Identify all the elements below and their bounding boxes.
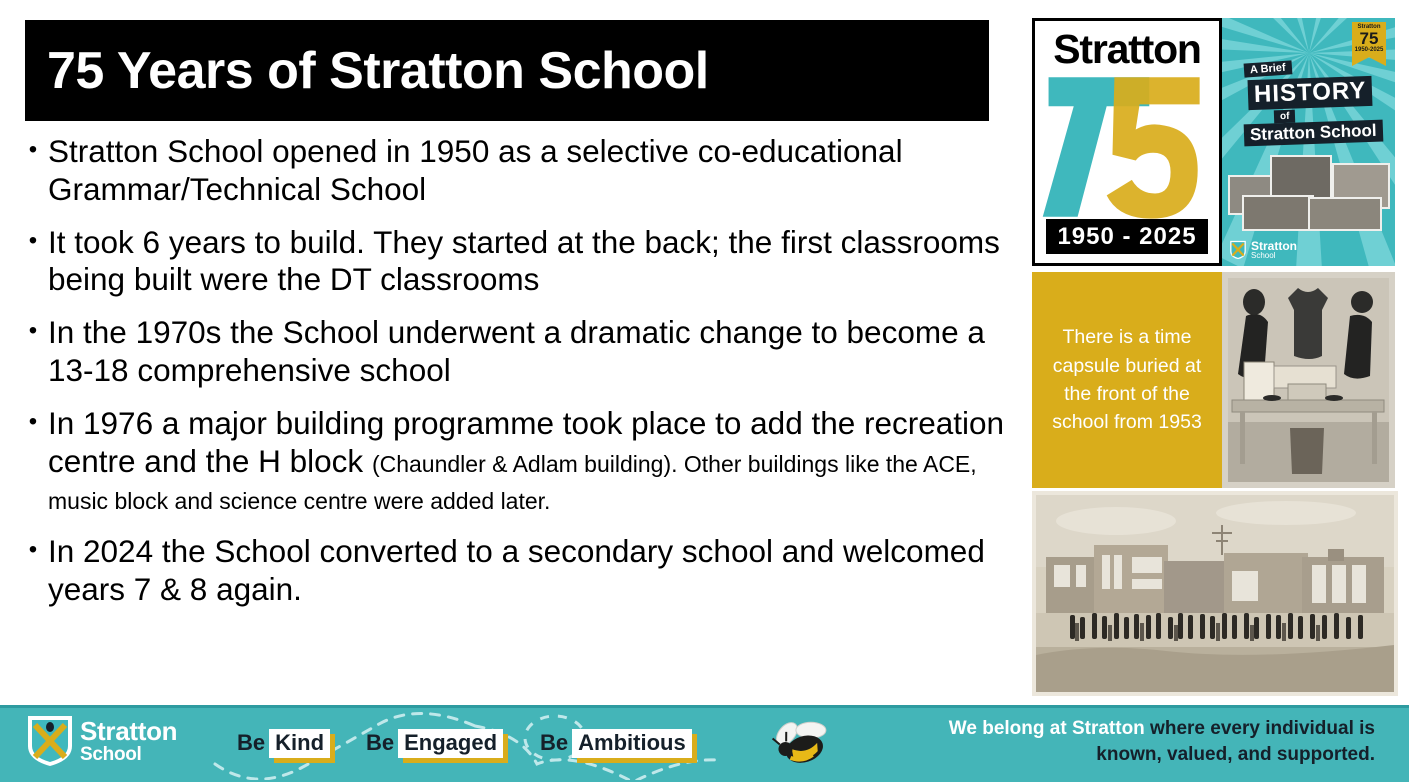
ribbon-numeral: 75 [1352, 31, 1386, 47]
bullet-marker: • [18, 533, 48, 567]
ribbon-bottom-text: 1950-2025 [1355, 47, 1384, 53]
bullet-marker: • [18, 314, 48, 348]
school-building-photo [1032, 491, 1398, 696]
list-item: • Stratton School opened in 1950 as a se… [18, 133, 1023, 209]
book-school-name-sub: School [1251, 252, 1297, 260]
book-title-line-2: HISTORY [1248, 76, 1373, 110]
bullet-list: • Stratton School opened in 1950 as a se… [18, 133, 1023, 624]
uniform-display-photo [1222, 272, 1395, 488]
value-chip-prefix: Be [540, 730, 572, 755]
list-item-main: In 2024 the School converted to a second… [48, 533, 985, 607]
logo-75-numeral-icon [1035, 69, 1219, 224]
list-item: • In 1976 a major building programme too… [18, 405, 1023, 518]
page-title: 75 Years of Stratton School [25, 45, 709, 97]
value-chip-prefix: Be [237, 730, 269, 755]
time-capsule-callout: There is a time capsule buried at the fr… [1032, 272, 1222, 488]
logo-wordmark: Stratton [1035, 26, 1219, 73]
uniform-photo-image [1222, 272, 1395, 488]
history-book-cover: Stratton 75 1950-2025 A Brief HISTORY of… [1222, 18, 1395, 266]
footer-school-name: Stratton School [80, 718, 177, 764]
list-item-text: In 2024 the School converted to a second… [48, 533, 1023, 609]
value-chip-word: Ambitious [572, 729, 692, 758]
value-chip-word: Engaged [398, 729, 503, 758]
list-item: • In 2024 the School converted to a seco… [18, 533, 1023, 609]
school-motto: We belong at Stratton where every indivi… [905, 716, 1375, 767]
footer-school-name-sub: School [80, 745, 177, 764]
list-item: • It took 6 years to build. They started… [18, 224, 1023, 300]
photo-collage [1228, 153, 1389, 228]
media-row-top: Stratton 1950 - 2025 [1032, 18, 1398, 266]
bullet-marker: • [18, 133, 48, 167]
motto-highlight: We belong at Stratton [949, 718, 1145, 739]
list-item-main: Stratton School opened in 1950 as a sele… [48, 133, 903, 207]
value-chip-engaged: BeEngaged [366, 729, 503, 758]
school-shield-icon [26, 714, 74, 768]
value-chip-ambitious: BeAmbitious [540, 729, 692, 758]
collage-photo [1308, 197, 1382, 231]
media-row-middle: There is a time capsule buried at the fr… [1032, 272, 1398, 488]
footer-school-name-main: Stratton [80, 716, 177, 746]
book-title-line-3: of [1274, 110, 1296, 124]
title-banner: 75 Years of Stratton School [25, 20, 989, 121]
book-school-logo: Stratton School [1229, 240, 1297, 260]
bullet-marker: • [18, 224, 48, 258]
logo-year-range: 1950 - 2025 [1046, 219, 1208, 254]
list-item-main: It took 6 years to build. They started a… [48, 224, 1000, 298]
collage-photo [1242, 195, 1314, 231]
building-photo-image [1036, 495, 1394, 692]
bullet-marker: • [18, 405, 48, 439]
value-chip-kind: BeKind [237, 729, 330, 758]
list-item-text: Stratton School opened in 1950 as a sele… [48, 133, 1023, 209]
list-item-text: In the 1970s the School underwent a dram… [48, 314, 1023, 390]
list-item: • In the 1970s the School underwent a dr… [18, 314, 1023, 390]
bee-icon [765, 714, 837, 776]
stratton-75-logo: Stratton 1950 - 2025 [1032, 18, 1222, 266]
list-item-main: In the 1970s the School underwent a dram… [48, 314, 985, 388]
value-chip-word: Kind [269, 729, 330, 758]
value-chip-prefix: Be [366, 730, 398, 755]
list-item-text: It took 6 years to build. They started a… [48, 224, 1023, 300]
time-capsule-text: There is a time capsule buried at the fr… [1042, 323, 1212, 436]
media-column: Stratton 1950 - 2025 [1032, 18, 1398, 698]
list-item-text: In 1976 a major building programme took … [48, 405, 1023, 518]
book-school-name: Stratton School [1251, 240, 1297, 260]
shield-icon [1229, 240, 1247, 260]
slide-canvas: 75 Years of Stratton School • Stratton S… [0, 0, 1409, 782]
